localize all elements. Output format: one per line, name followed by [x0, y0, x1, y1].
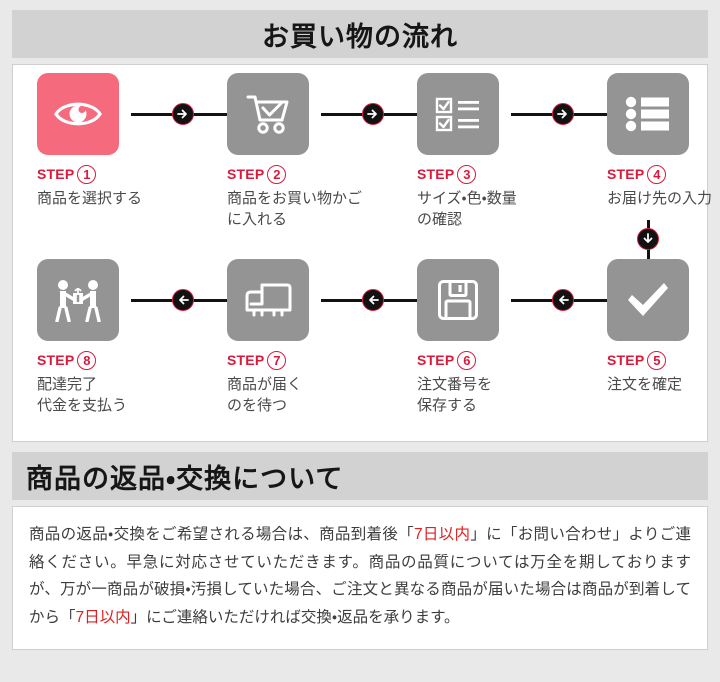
step-number: 8: [77, 351, 96, 370]
returns-highlight-period-1: 7日以内: [414, 526, 470, 543]
step-number: 1: [77, 165, 96, 184]
returns-highlight-period-2: 7日以内: [76, 609, 131, 626]
step-3-tile[interactable]: [417, 73, 499, 155]
arrow-left-icon: [367, 294, 379, 306]
step-2-tile[interactable]: [227, 73, 309, 155]
step-7-label: STEP 7: [227, 350, 402, 370]
returns-policy-text: 商品の返品・交換をご希望される場合は、商品到着後「7日以内」に「お問い合わせ」よ…: [29, 521, 691, 631]
arrow-right-icon: [557, 108, 569, 120]
step-7-description: 商品が届く のを待つ: [227, 374, 402, 417]
step-number: 2: [267, 165, 286, 184]
flow-step-5[interactable]: STEP 5 注文を確定: [607, 259, 720, 395]
arrow-right-icon: [177, 108, 189, 120]
step-4-tile[interactable]: [607, 73, 689, 155]
step-number: 3: [457, 165, 476, 184]
arrow-step3-to-step4: [552, 103, 574, 125]
checklist-icon: [433, 96, 483, 132]
arrow-left-icon: [557, 294, 569, 306]
step-5-label: STEP 5: [607, 350, 720, 370]
flow-section-title: お買い物の流れ: [262, 15, 458, 54]
step-word: STEP: [607, 167, 644, 181]
step-1-description: 商品を選択する: [37, 188, 212, 209]
step-5-tile[interactable]: [607, 259, 689, 341]
arrow-right-icon: [367, 108, 379, 120]
step-1-label: STEP 1: [37, 164, 212, 184]
floppy-save-icon: [437, 279, 479, 321]
bullet-list-icon: [625, 96, 671, 132]
step-6-tile[interactable]: [417, 259, 499, 341]
flow-step-8[interactable]: STEP 8 配達完了 代金を支払う: [37, 259, 212, 417]
step-word: STEP: [607, 353, 644, 367]
step-6-label: STEP 6: [417, 350, 592, 370]
eye-icon: [53, 96, 103, 132]
returns-policy-panel: 商品の返品・交換をご希望される場合は、商品到着後「7日以内」に「お問い合わせ」よ…: [12, 506, 708, 650]
step-number: 4: [647, 165, 666, 184]
step-7-tile[interactable]: [227, 259, 309, 341]
arrow-step1-to-step2: [172, 103, 194, 125]
step-6-description: 注文番号を 保存する: [417, 374, 592, 417]
step-8-description: 配達完了 代金を支払う: [37, 374, 212, 417]
shopping-flow-panel: STEP 1 商品を選択する STEP 2 商品をお買い物かご に入れる: [12, 64, 708, 442]
step-word: STEP: [37, 353, 74, 367]
step-5-description: 注文を確定: [607, 374, 720, 395]
flow-step-2[interactable]: STEP 2 商品をお買い物かご に入れる: [227, 73, 402, 231]
step-word: STEP: [417, 353, 454, 367]
step-number: 7: [267, 351, 286, 370]
step-2-description: 商品をお買い物かご に入れる: [227, 188, 402, 231]
flow-step-1[interactable]: STEP 1 商品を選択する: [37, 73, 212, 209]
flow-row-bottom: STEP 8 配達完了 代金を支払う STEP 7 商品が届く のを待つ: [13, 259, 707, 429]
flow-step-6[interactable]: STEP 6 注文番号を 保存する: [417, 259, 592, 417]
returns-text-part1: 商品の返品・交換をご希望される場合は、商品到着後「: [29, 526, 414, 543]
arrow-step2-to-step3: [362, 103, 384, 125]
handover-package-icon: [52, 278, 104, 322]
arrow-step5-to-step6: [552, 289, 574, 311]
step-4-description: お届け先の入力: [607, 188, 720, 209]
arrow-step4-to-step5: [637, 228, 659, 250]
arrow-step7-to-step8: [172, 289, 194, 311]
flow-step-3[interactable]: STEP 3 サイズ・色・数量 の確認: [417, 73, 592, 231]
checkmark-icon: [624, 280, 672, 320]
delivery-truck-icon: [242, 280, 294, 320]
step-2-label: STEP 2: [227, 164, 402, 184]
arrow-down-icon: [642, 233, 654, 245]
flow-step-7[interactable]: STEP 7 商品が届く のを待つ: [227, 259, 402, 417]
returns-text-part3: 」にご連絡いただければ交換・返品を承ります。: [131, 609, 460, 626]
step-word: STEP: [227, 353, 264, 367]
step-3-description: サイズ・色・数量 の確認: [417, 188, 592, 231]
step-number: 6: [457, 351, 476, 370]
shopping-cart-icon: [244, 92, 292, 136]
step-word: STEP: [227, 167, 264, 181]
step-4-label: STEP 4: [607, 164, 720, 184]
flow-section-header: お買い物の流れ: [12, 10, 708, 58]
flow-row-top: STEP 1 商品を選択する STEP 2 商品をお買い物かご に入れる: [13, 73, 707, 243]
returns-section-title: 商品の返品・交換について: [26, 457, 343, 496]
arrow-step6-to-step7: [362, 289, 384, 311]
step-number: 5: [647, 351, 666, 370]
step-word: STEP: [37, 167, 74, 181]
step-word: STEP: [417, 167, 454, 181]
step-8-label: STEP 8: [37, 350, 212, 370]
step-3-label: STEP 3: [417, 164, 592, 184]
arrow-left-icon: [177, 294, 189, 306]
returns-section-header: 商品の返品・交換について: [12, 452, 708, 500]
step-1-tile[interactable]: [37, 73, 119, 155]
flow-step-4[interactable]: STEP 4 お届け先の入力: [607, 73, 720, 209]
step-8-tile[interactable]: [37, 259, 119, 341]
